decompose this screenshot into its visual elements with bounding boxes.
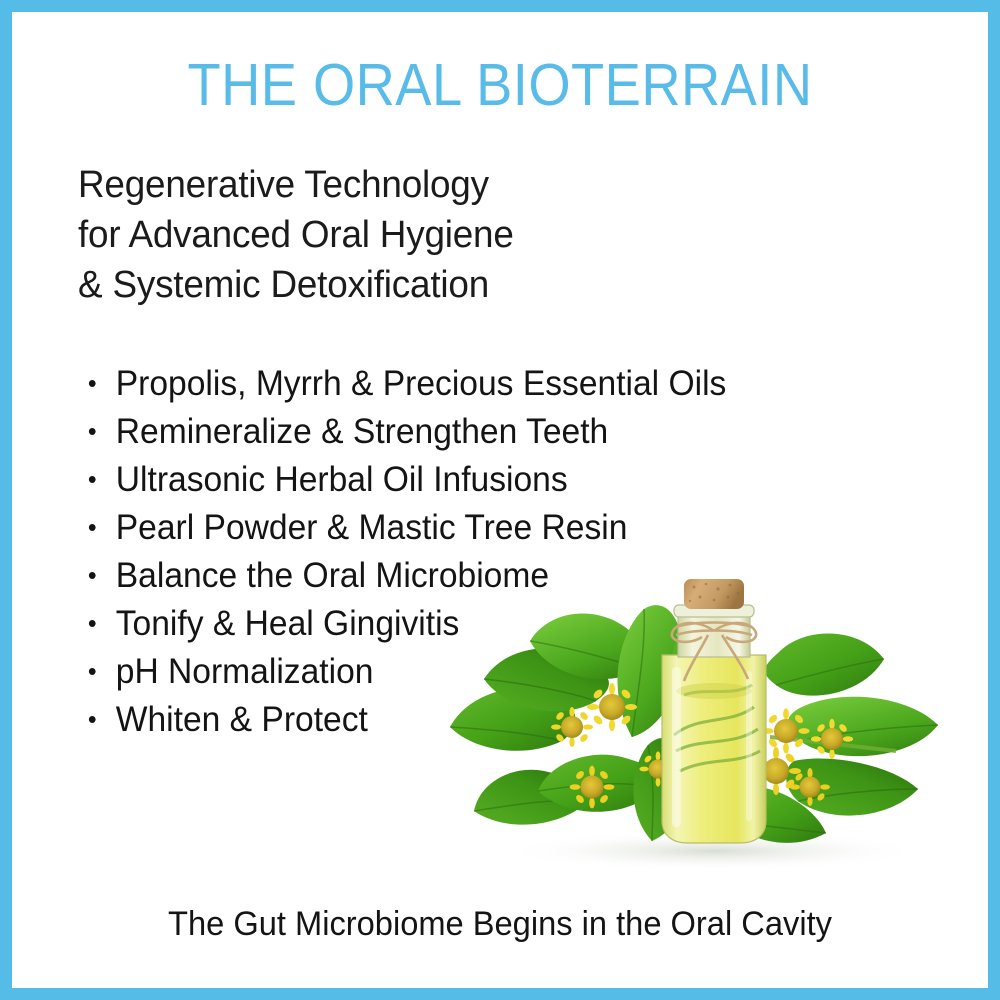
product-photo-oil-bottle-with-herbs (440, 575, 988, 875)
list-item: Propolis, Myrrh & Precious Essential Oil… (86, 360, 726, 408)
subtitle-line-2: for Advanced Oral Hygiene (78, 210, 514, 260)
poster-canvas: THE ORAL BIOTERRAIN Regenerative Technol… (0, 0, 1000, 1000)
bottle-neck (678, 611, 750, 657)
frame-border-left (0, 0, 12, 1000)
oil-bottle (662, 579, 766, 843)
list-item: Ultrasonic Herbal Oil Infusions (86, 456, 726, 504)
frame-border-top (0, 0, 1000, 12)
frame-border-bottom (0, 988, 1000, 1000)
subtitle-line-1: Regenerative Technology (78, 160, 514, 210)
list-item: Pearl Powder & Mastic Tree Resin (86, 504, 726, 552)
oil-surface (676, 683, 752, 699)
subtitle-line-3: & Systemic Detoxification (78, 260, 514, 310)
footer-caption: The Gut Microbiome Begins in the Oral Ca… (20, 902, 980, 946)
subtitle-block: Regenerative Technology for Advanced Ora… (78, 160, 514, 310)
frame-border-right (988, 0, 1000, 1000)
page-title: THE ORAL BIOTERRAIN (40, 56, 960, 115)
list-item: Remineralize & Strengthen Teeth (86, 408, 726, 456)
cork-stopper (684, 579, 744, 609)
